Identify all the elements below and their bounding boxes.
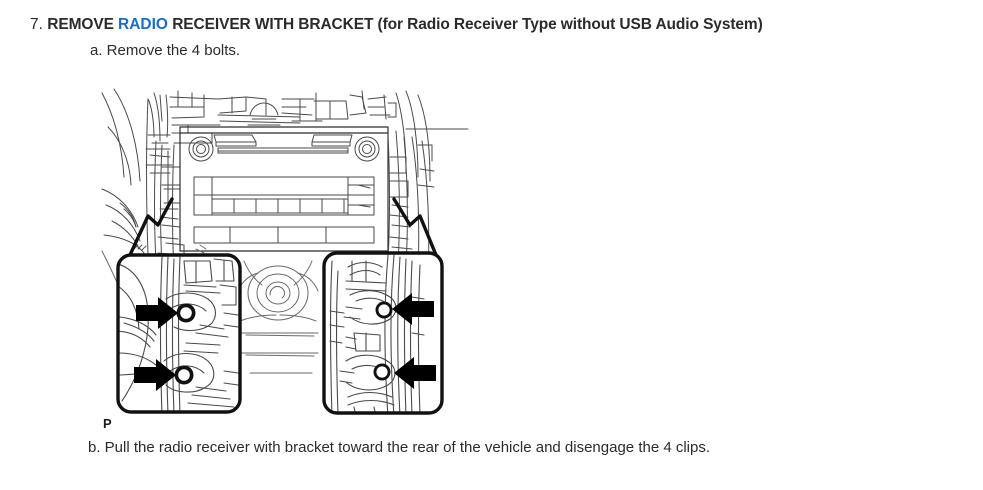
right-callout-leader [394, 199, 436, 255]
bolt-lower-left [175, 366, 194, 385]
right-callout [324, 253, 442, 417]
left-callout [114, 255, 240, 415]
step-title-keyword: RADIO [118, 16, 168, 33]
figure-marker-p: P [103, 417, 112, 431]
radio-face-detail [189, 135, 379, 243]
figure-svg [100, 85, 472, 425]
radio-receiver-bezel [180, 127, 388, 251]
bolt-lower-right [374, 364, 391, 381]
step-title-after: RECEIVER WITH BRACKET (for Radio Receive… [168, 16, 763, 33]
step-number: 7. [30, 16, 43, 33]
bolt-upper-left [177, 304, 196, 323]
substep-a: a. Remove the 4 bolts. [90, 41, 240, 61]
step-heading: 7. REMOVE RADIO RECEIVER WITH BRACKET (f… [30, 15, 763, 35]
step-title-before: REMOVE [47, 16, 118, 33]
bolt-upper-right [376, 302, 393, 319]
dashboard-background-lines [102, 89, 430, 271]
figure-radio-receiver [100, 85, 472, 425]
manual-page: 7. REMOVE RADIO RECEIVER WITH BRACKET (f… [0, 0, 983, 490]
console-vent-detail [238, 261, 318, 373]
substep-b: b. Pull the radio receiver with bracket … [88, 438, 710, 458]
